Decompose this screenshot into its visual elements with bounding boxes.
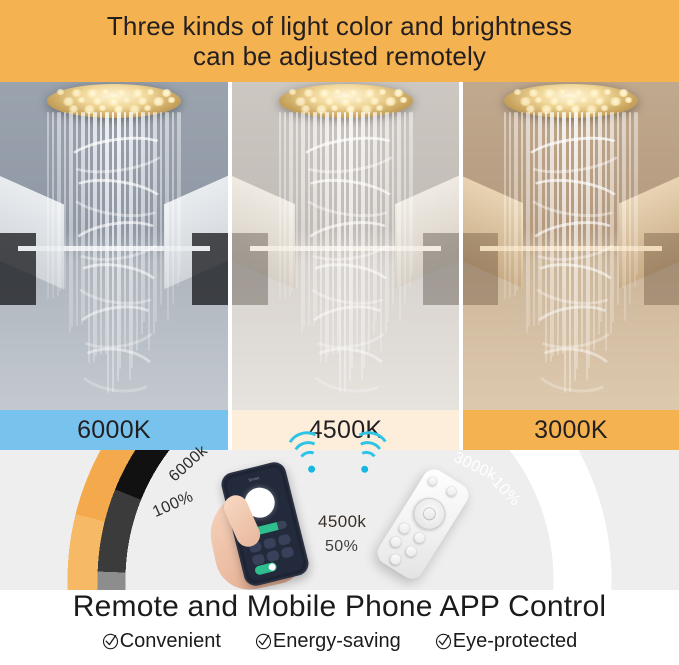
crystal-strand [76,112,78,326]
crystal-strand [533,112,535,326]
panel-3000k: 3000K [463,82,679,450]
header-line-2: can be adjusted remotely [193,41,486,71]
chandelier-icon [496,84,646,404]
remote-button-3[interactable] [388,534,403,549]
app-key[interactable] [277,533,291,546]
chandelier-bulb [378,89,387,95]
chandelier-bulb [152,97,165,106]
crystal-strand [303,112,305,327]
panel-label: 3000K [534,416,608,445]
chandelier-bulb [56,89,65,95]
chandelier-bulb [534,97,543,103]
shadow-left [232,233,268,305]
room-photo-4500k [232,82,459,410]
chandelier-bulb [288,89,297,95]
crystal-strand [179,112,181,275]
shadow-right [192,233,228,305]
chandelier-bulb [555,105,564,111]
chandelier-bulb [92,97,103,105]
crystal-strand [71,112,73,327]
crystal-strand [399,112,401,321]
crystal-strand [411,112,413,275]
arc-label-4500k: 4500k [318,512,366,532]
crystal-strand [296,112,298,289]
check-circle-icon [102,633,119,650]
label-bar-3000k: 3000K [463,410,679,450]
product-infographic: Three kinds of light color and brightnes… [0,0,679,665]
chandelier-bulb [309,97,318,103]
chandelier-bulb [600,105,609,111]
remote-button-mode[interactable] [445,484,459,498]
crystal-strands [276,112,416,404]
chandelier-bulb [333,89,342,95]
chandelier-bulb [558,89,567,95]
shadow-left [0,233,36,305]
chandelier-bulbs [52,87,176,115]
chandelier-bulb [573,89,584,97]
crystal-strand [308,112,310,326]
label-bar-4500k: 4500K [232,410,459,450]
crystal-strand [59,112,61,291]
arc-label-50: 50% [325,538,358,556]
chandelier-bulb [513,89,522,95]
chandelier-icon [271,84,421,404]
chandelier-bulb [549,97,560,105]
crystal-strands [44,112,184,404]
crystal-strand [521,112,523,289]
panel-6000k: 6000K [0,82,228,450]
remote-dpad-center[interactable] [420,505,438,523]
app-key[interactable] [266,550,280,563]
feature-label: Energy-saving [273,630,401,653]
chandelier-bulb [116,89,127,97]
chandelier-bulb [609,97,622,106]
panel-4500k: 4500K [232,82,459,450]
remote-button-2[interactable] [412,530,427,545]
remote-button-5[interactable] [388,552,403,567]
chandelier-bulbs [509,87,633,115]
chandelier-bulb [98,105,107,111]
chandelier-bulb [101,89,110,95]
header-banner: Three kinds of light color and brightnes… [0,0,679,82]
footer: Remote and Mobile Phone APP Control Conv… [0,590,679,665]
crystal-strand [52,112,54,298]
chandelier-bulb [167,97,176,103]
crystal-strand [516,112,518,291]
wifi-dot [360,465,368,473]
crystal-strands [501,112,641,404]
crystal-strand [172,112,174,304]
chandelier-bulb [375,105,384,111]
crystal-spiral [305,343,392,398]
remote-button-4[interactable] [404,544,419,559]
chandelier-bulbs [284,87,408,115]
remote-button-power[interactable] [426,475,438,487]
shadow-right [644,233,679,305]
room-photo-3000k [463,82,679,410]
feature-eye-protected: Eye-protected [435,630,578,653]
crystal-spiral [530,343,617,398]
chandelier-bulb [579,97,588,103]
chandelier-bulb [354,97,363,103]
check-circle-icon [255,633,272,650]
remote-dpad[interactable] [407,492,451,536]
chandelier-bulb [603,89,612,95]
crystal-strand [629,112,631,304]
header-line-1: Three kinds of light color and brightnes… [107,11,572,41]
chandelier-bulb [618,89,629,97]
feature-label: Convenient [120,630,221,653]
chandelier-bulb [399,97,408,103]
chandelier-bulb [528,89,539,97]
chandelier-bulb [330,105,339,111]
chandelier-bulb [384,97,397,106]
app-title: Smart [226,470,282,488]
crystal-strand [279,112,281,299]
crystal-strand [504,112,506,299]
crystal-strand [64,112,66,289]
remote-button-1[interactable] [397,521,412,536]
panel-label: 6000K [77,416,151,445]
app-key[interactable] [281,546,295,559]
crystal-strand [636,112,638,275]
feature-energy-saving: Energy-saving [255,630,401,653]
chandelier-bulb [348,89,359,97]
chandelier-bulb [143,105,152,111]
chandelier-bulb [594,97,605,105]
shadow-left [463,233,498,305]
label-bar-6000k: 6000K [0,410,228,450]
chandelier-bulb [122,97,131,103]
feature-convenient: Convenient [102,630,221,653]
footer-title: Remote and Mobile Phone APP Control [0,590,679,624]
chandelier-bulb [369,97,380,105]
crystal-strand [528,112,530,327]
crystal-strand [624,112,626,321]
chandelier-bulb [624,97,633,103]
check-circle-icon [435,633,452,650]
chandelier-bulb [324,97,335,105]
crystal-strand [167,112,169,321]
color-temperature-panels: 6000K 4500K [0,82,679,450]
chandelier-bulb [393,89,404,97]
feature-label: Eye-protected [453,630,578,653]
chandelier-bulb [146,89,155,95]
feature-list: Convenient Energy-saving Eye-protected [0,630,679,653]
chandelier-bulb [71,89,82,97]
app-key[interactable] [263,537,277,550]
crystal-spiral [73,343,160,398]
shadow-right [423,233,459,305]
crystal-strand [291,112,293,291]
crystal-strand [509,112,511,298]
crystal-strand [284,112,286,298]
chandelier-bulb [303,89,314,97]
crystal-strand [47,112,49,299]
chandelier-bulb [137,97,148,105]
chandelier-icon [39,84,189,404]
room-photo-6000k [0,82,228,410]
chandelier-bulb [77,97,86,103]
crystal-strand [404,112,406,304]
chandelier-bulb [161,89,172,97]
